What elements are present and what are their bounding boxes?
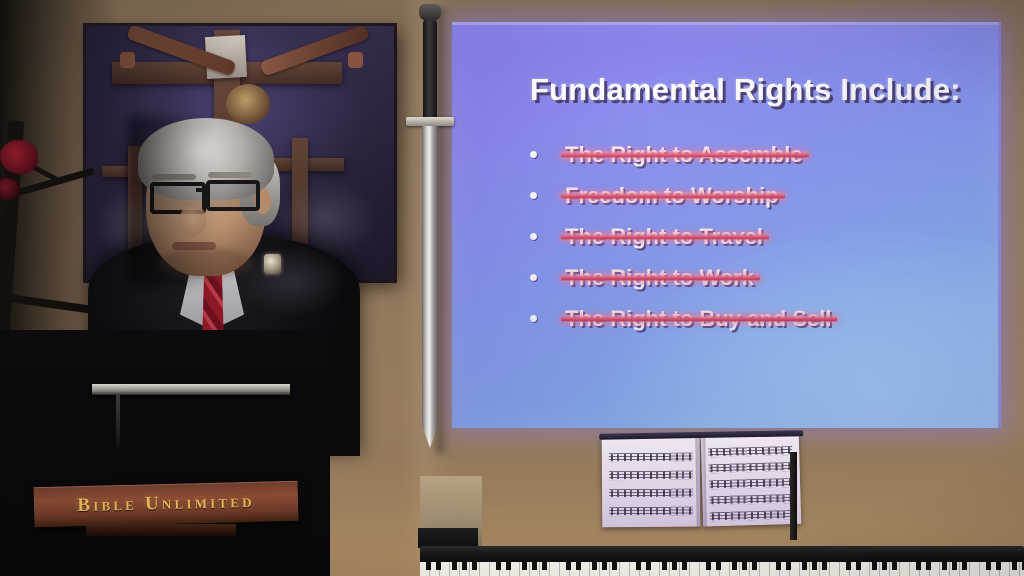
slide-title: Fundamental Rights Include: [530,72,970,108]
podium-plaque-text: Bible Unlimited [77,491,255,517]
music-stand-post [790,452,797,540]
plant-flower [0,140,38,174]
wall-mounted-sword [406,4,454,454]
music-notes [611,508,691,516]
projection-screen: Fundamental Rights Include: The Right to… [452,22,1001,428]
sword-grip [423,20,437,120]
electronic-keyboard [420,546,1024,576]
keyboard-control-panel [418,528,478,548]
podium-book-edge [92,384,290,395]
video-frame: Fundamental Rights Include: The Right to… [0,0,1024,576]
music-notes [611,472,691,480]
podium-plaque: Bible Unlimited [34,481,299,527]
bullet-label: The Right to Travel [565,224,763,250]
bullet-label: The Right to Work [565,265,754,291]
podium-plaque-base [86,524,236,536]
keyboard-black-keys [420,562,1024,570]
bullet-label: The Right to Buy and Sell [565,306,831,332]
bullet-dot-icon [530,233,537,240]
bullet-dot-icon [530,315,537,322]
sword-pommel [419,4,441,21]
screen-edge-top [452,22,1001,25]
speaker-lapel-pin [264,254,281,274]
sword-shadow [436,8,450,454]
bullet-dot-icon [530,274,537,281]
slide-bullet-item: The Right to Work [530,257,1000,298]
bullet-dot-icon [530,192,537,199]
hymnal-spine [695,434,707,528]
music-notes [611,454,691,462]
speaker-face-shadow [128,116,218,286]
sword-crossguard [406,117,454,126]
open-hymnal [599,430,805,532]
hymnal-page-left [602,437,701,528]
slide-bullet-item: The Right to Travel [530,216,1000,257]
sword-blade [422,126,438,448]
slide-bullet-item: Freedom to Worship [530,175,1000,216]
slide-bullet-item: The Right to Buy and Sell [530,298,1000,339]
bullet-dot-icon [530,151,537,158]
microphone-stem [116,395,120,447]
slide-bullet-list: The Right to Assemble Freedom to Worship… [530,134,1000,339]
speaker-shoulder-highlight [238,246,348,316]
podium [0,330,330,576]
music-notes [611,490,691,498]
slide-bullet-item: The Right to Assemble [530,134,1000,175]
bullet-label: Freedom to Worship [565,183,779,209]
hymnal-page-right [701,434,801,527]
keyboard-body [420,546,1024,562]
bullet-label: The Right to Assemble [565,142,803,168]
